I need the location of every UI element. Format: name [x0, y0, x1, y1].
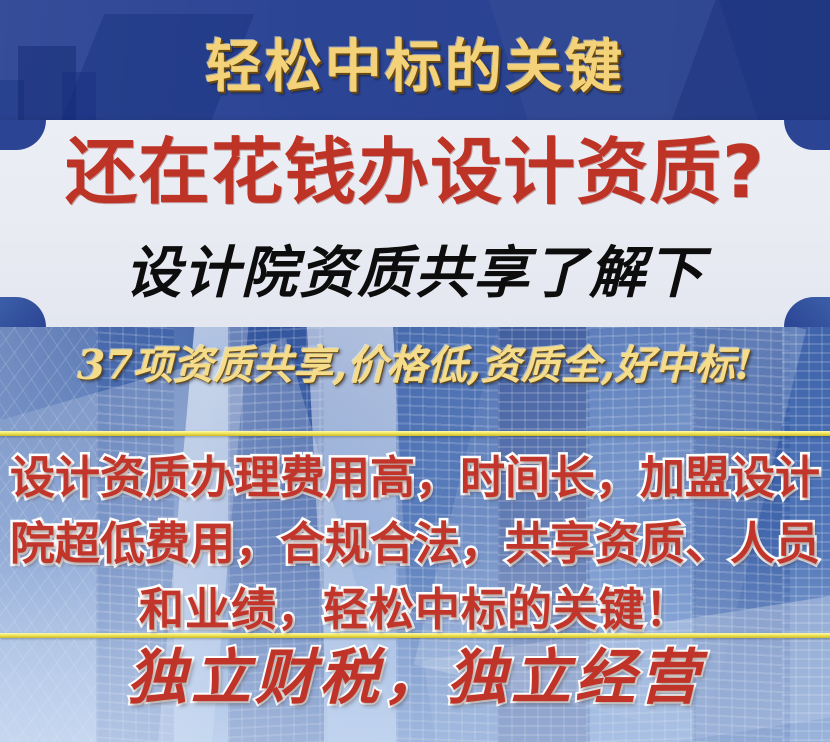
banner-corner-bottom-right: [784, 297, 830, 327]
body-line-1: 设计资质办理费用高，时间长，加盟设计: [0, 445, 830, 511]
headline-subtitle: 设计院资质共享了解下: [0, 245, 830, 301]
promo-poster: 轻松中标的关键 还在花钱办设计资质? 设计院资质共享了解下: [0, 0, 830, 742]
banner-corner-bottom-left: [0, 297, 46, 327]
body-paragraph: 设计资质办理费用高，时间长，加盟设计 院超低费用，合规合法，共享资质、人员 和业…: [0, 445, 830, 643]
header-title: 轻松中标的关键: [0, 0, 830, 124]
gold-selling-line: 37项资质共享,价格低,资质全,好中标!: [0, 346, 830, 386]
headline-question: 还在花钱办设计资质?: [0, 136, 830, 208]
headline-banner: 还在花钱办设计资质? 设计院资质共享了解下: [0, 120, 830, 327]
body-line-2: 院超低费用，合规合法，共享资质、人员: [0, 511, 830, 577]
footer-tagline: 独立财税，独立经营: [0, 648, 830, 708]
body-line-3: 和业绩，轻松中标的关键！: [0, 577, 830, 643]
divider-rule-top: [0, 431, 830, 436]
